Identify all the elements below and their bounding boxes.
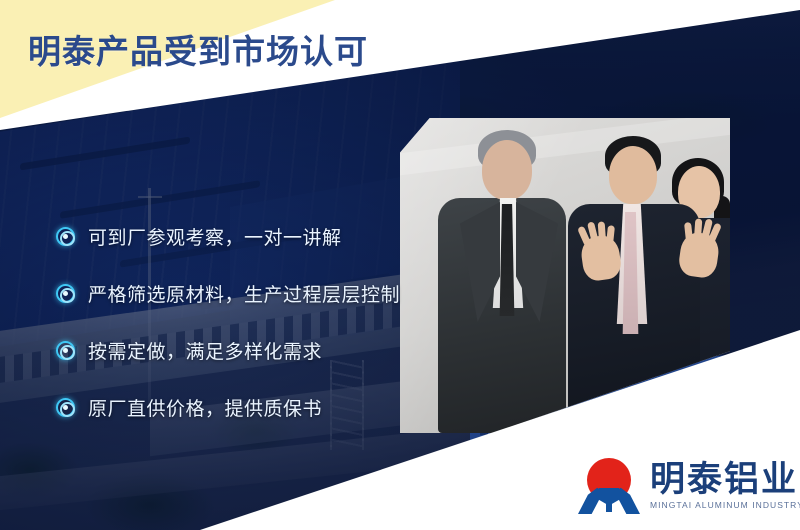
- page-title: 明泰产品受到市场认可: [28, 25, 368, 73]
- list-item: 按需定做，满足多样化需求: [56, 322, 396, 379]
- person-left-head: [482, 140, 532, 200]
- mingtai-mark-icon: [578, 458, 640, 514]
- logo-company-name-cn: 明泰铝业: [650, 462, 800, 498]
- list-item: 原厂直供价格，提供质保书: [56, 379, 396, 436]
- target-ring-icon: [56, 341, 75, 360]
- feature-list: 可到厂参观考察，一对一讲解 严格筛选原材料，生产过程层层控制 按需定做，满足多样…: [56, 208, 396, 436]
- target-ring-icon: [56, 284, 75, 303]
- target-ring-icon: [56, 398, 75, 417]
- logo-t-glyph-icon: [606, 488, 612, 512]
- company-logo: 明泰铝业 MINGTAI ALUMINUM INDUSTRY CO., LTD: [578, 458, 800, 514]
- feature-text: 严格筛选原材料，生产过程层层控制: [88, 280, 400, 307]
- target-ring-icon: [56, 227, 75, 246]
- list-item: 严格筛选原材料，生产过程层层控制: [56, 265, 396, 322]
- feature-text: 原厂直供价格，提供质保书: [88, 394, 322, 421]
- feature-text: 可到厂参观考察，一对一讲解: [88, 223, 342, 250]
- list-item: 可到厂参观考察，一对一讲解: [56, 208, 396, 265]
- feature-text: 按需定做，满足多样化需求: [88, 337, 322, 364]
- promo-banner: 明泰产品受到市场认可 可到厂参观考察，一对一讲解 严格筛选原材料，生产过程层层控…: [0, 0, 800, 530]
- logo-company-name-en: MINGTAI ALUMINUM INDUSTRY CO., LTD: [650, 500, 800, 510]
- person-center-head: [609, 146, 657, 204]
